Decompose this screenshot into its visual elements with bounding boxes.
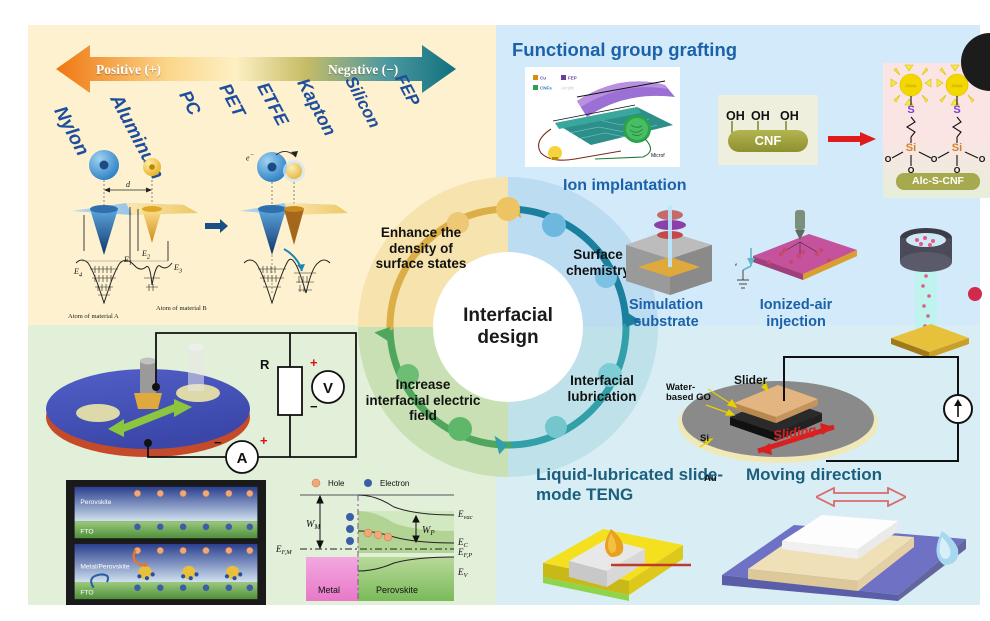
graphical-abstract: Positive (+) Negative (−) NylonAluminumP… xyxy=(28,25,980,605)
svg-text:FTO: FTO xyxy=(80,589,93,596)
simulation-substrate-graphic xyxy=(608,205,728,297)
svg-text:−: − xyxy=(214,435,222,450)
cnf-teng-inset: Microf Cu FEP CNFs Acrylic xyxy=(525,67,680,167)
svg-text:Metal: Metal xyxy=(318,585,340,595)
label-water-based-go: Water-based GO xyxy=(666,383,716,404)
svg-text:FEP: FEP xyxy=(568,76,577,81)
inset-note-text: Microf xyxy=(651,153,665,159)
product-label-alc-s-cnf: Alc-S-CNF xyxy=(896,173,980,190)
svg-text:Hole: Hole xyxy=(328,479,345,488)
label-simulation-substrate: Simulation substrate xyxy=(611,297,721,330)
svg-text:V: V xyxy=(323,380,333,397)
hub-label-electric-field: Increase interfacial electric field xyxy=(364,377,482,424)
energy-label-e2: E2 xyxy=(142,249,150,261)
svg-text:Alkene: Alkene xyxy=(952,84,963,88)
energy-label-e4: E4 xyxy=(74,267,82,279)
svg-text:Cu: Cu xyxy=(540,76,546,81)
electron-cloud-potential-well-model xyxy=(68,145,368,315)
tribo-positive-label: Positive (+) xyxy=(96,62,161,78)
svg-text:Acrylic: Acrylic xyxy=(561,86,575,91)
atom-caption-b: Atom of material B xyxy=(156,305,207,312)
svg-text:Metal/Perovskite: Metal/Perovskite xyxy=(80,564,129,571)
svg-text:Si: Si xyxy=(906,142,916,154)
svg-text:Si: Si xyxy=(952,142,962,154)
svg-text:Perovskite: Perovskite xyxy=(80,499,111,506)
heading-functional-group-grafting: Functional group grafting xyxy=(512,39,737,61)
label-ionized-air-injection: Ionized-air injection xyxy=(740,297,852,330)
svg-text:CNFs: CNFs xyxy=(540,86,552,91)
rotary-teng-graphic: V A R + − − + xyxy=(38,325,368,475)
label-slider: Slider xyxy=(734,373,767,387)
ion-beam-source-graphic xyxy=(883,220,990,360)
svg-text:−: − xyxy=(310,399,318,414)
svg-text:WM: WM xyxy=(306,519,321,531)
distance-label-d: d xyxy=(126,180,130,189)
moving-direction-arrow-icon xyxy=(816,487,906,507)
svg-text:Evac: Evac xyxy=(457,509,473,521)
svg-text:EV: EV xyxy=(457,567,469,579)
atom-caption-a: Atom of material A xyxy=(68,313,119,320)
svg-text:Perovskite: Perovskite xyxy=(376,585,418,595)
svg-text:Electron: Electron xyxy=(380,479,409,488)
moving-direction-graphic xyxy=(718,503,978,605)
hub-label-density: Enhance the density of surface states xyxy=(366,225,476,272)
hub-label-lubrication: Interfacial lubrication xyxy=(546,373,658,404)
svg-text:O: O xyxy=(885,154,892,164)
liquid-lubricated-teng-graphic xyxy=(533,515,693,605)
energy-band-diagram: Hole Electron WM WP EF,M Evac EC EF,P EV… xyxy=(276,475,511,605)
label-au: Au xyxy=(704,473,717,484)
energy-label-e3: E3 xyxy=(174,263,182,275)
cnf-rod: CNF xyxy=(728,130,808,152)
svg-text:FTO: FTO xyxy=(80,528,93,535)
tribo-negative-label: Negative (−) xyxy=(328,62,398,78)
svg-text:R: R xyxy=(260,357,270,372)
svg-text:+: + xyxy=(260,433,268,448)
heading-ion-implantation: Ion implantation xyxy=(563,177,687,195)
svg-text:EF,M: EF,M xyxy=(276,544,292,556)
svg-text:S: S xyxy=(953,104,960,116)
perovskite-layer-diagram: Perovskite FTO Metal/Perovskite FTO xyxy=(66,480,266,605)
svg-text:S: S xyxy=(907,104,914,116)
energy-label-e1: E1 xyxy=(124,255,132,267)
label-si: Si xyxy=(700,433,709,444)
reaction-arrow-icon xyxy=(828,132,876,146)
svg-text:A: A xyxy=(237,450,248,467)
electron-label: e− xyxy=(246,152,254,163)
go-slider-graphic xyxy=(658,353,990,473)
svg-text:+: + xyxy=(310,355,318,370)
svg-text:O: O xyxy=(979,154,986,164)
svg-text:O: O xyxy=(931,154,938,164)
svg-text:e: e xyxy=(735,263,738,268)
svg-text:Alkene: Alkene xyxy=(906,84,917,88)
ionized-air-injection-graphic: e xyxy=(733,210,863,295)
